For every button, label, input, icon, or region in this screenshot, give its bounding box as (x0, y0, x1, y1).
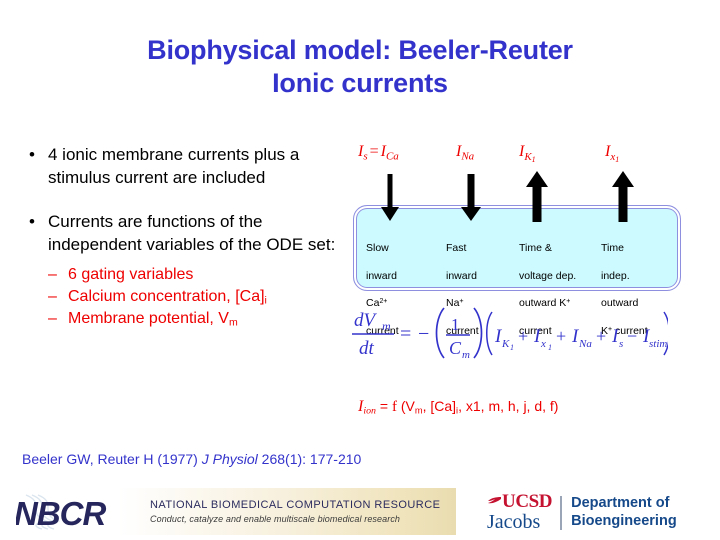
ucsd-wordmark: UCSD Jacobs (487, 492, 552, 533)
box-text-line: Time (601, 242, 648, 256)
title-line-2: Ionic currents (40, 67, 680, 100)
sub-bullet-text: 6 gating variables (68, 264, 336, 286)
nbcr-subtitle: Conduct, catalyze and enable multiscale … (150, 514, 450, 524)
sub-bullet-marker: – (48, 264, 68, 286)
arrow-down-ina-icon (459, 174, 483, 227)
svg-text:x: x (540, 338, 546, 350)
bullet-marker: • (26, 211, 48, 234)
box-text-line: inward (446, 270, 479, 284)
nbcr-logo: NBCR (16, 492, 146, 532)
list-item: – Calcium concentration, [Ca]i (48, 286, 336, 308)
arrow-down-ica-icon (378, 174, 402, 227)
box-text-line: inward (366, 270, 399, 284)
current-label-ina: INa (456, 143, 474, 163)
current-label-ik1: IK1 (519, 143, 536, 164)
svg-text:+: + (556, 326, 566, 346)
current-label-is-ica: Is=ICa (358, 143, 399, 163)
ode-equation: dV m dt = − 1 C m I K (352, 302, 668, 369)
sub-bullet-marker: – (48, 286, 68, 308)
svg-text:+: + (518, 326, 528, 346)
dept-line-1: Department of (571, 495, 677, 513)
svg-text:C: C (449, 338, 462, 358)
title-line-1: Biophysical model: Beeler-Reuter (40, 34, 680, 67)
bullet-text: 4 ionic membrane currents plus a stimulu… (48, 144, 336, 189)
svg-text:+: + (596, 326, 606, 346)
citation-authors: Beeler GW, Reuter H (1977) (22, 451, 198, 467)
bullet-marker: • (26, 144, 48, 167)
slide-canvas: Biophysical model: Beeler-Reuter Ionic c… (0, 0, 720, 540)
sub-bullet-list: – 6 gating variables – Calcium concentra… (26, 264, 336, 330)
ode-equation-svg: dV m dt = − 1 C m I K (352, 302, 668, 364)
sub-bullet-text: Calcium concentration, [Ca]i (68, 286, 336, 308)
sub-bullet-text: Membrane potential, Vm (68, 308, 336, 330)
list-item: • 4 ionic membrane currents plus a stimu… (26, 144, 336, 189)
svg-text:m: m (382, 319, 391, 333)
svg-text:K: K (501, 338, 510, 350)
ucsd-trident-icon (487, 495, 502, 508)
ucsd-top-text: UCSD (502, 491, 552, 512)
bullet-text: Currents are functions of the independen… (48, 211, 336, 256)
ion-args: (Vm, [Ca]i, x1, m, h, j, d, f) (401, 398, 559, 414)
ion-equals: = (380, 398, 392, 414)
ion-lhs: Iion (358, 398, 376, 415)
nbcr-text-block: NATIONAL BIOMEDICAL COMPUTATION RESOURCE… (150, 499, 450, 524)
box-text-line: voltage dep. (519, 270, 576, 284)
svg-text:Na: Na (578, 338, 592, 350)
box-text-line: Slow (366, 242, 399, 256)
svg-text:dV: dV (354, 310, 378, 331)
page-title: Biophysical model: Beeler-Reuter Ionic c… (40, 34, 680, 100)
ucsd-department: Department of Bioengineering (571, 495, 677, 530)
list-item: – Membrane potential, Vm (48, 308, 336, 330)
svg-text:1: 1 (548, 343, 552, 352)
svg-text:NBCR: NBCR (16, 495, 106, 532)
svg-text:dt: dt (359, 338, 375, 359)
sub-bullet-marker: – (48, 308, 68, 330)
svg-text:s: s (619, 338, 623, 350)
bullet-list: • 4 ionic membrane currents plus a stimu… (26, 144, 336, 330)
box-text-line: Time & (519, 242, 576, 256)
ucsd-top-line: UCSD (487, 492, 552, 511)
svg-text:−: − (418, 323, 429, 345)
ucsd-logo-block: UCSD Jacobs Department of Bioengineering (487, 492, 677, 533)
arrow-up-ix1-icon (610, 171, 636, 227)
svg-text:=: = (400, 323, 411, 345)
nbcr-title: NATIONAL BIOMEDICAL COMPUTATION RESOURCE (150, 499, 450, 511)
svg-text:−: − (627, 326, 637, 346)
svg-text:1: 1 (451, 315, 460, 334)
svg-text:1: 1 (510, 343, 514, 352)
svg-text:stim: stim (649, 338, 667, 350)
svg-text:m: m (462, 349, 470, 361)
citation-details: 268(1): 177-210 (262, 451, 362, 467)
list-item: – 6 gating variables (48, 264, 336, 286)
ion-function-equation: Iion = f (Vm, [Ca]i, x1, m, h, j, d, f) (358, 398, 558, 417)
box-text-line: indep. (601, 270, 648, 284)
dept-line-2: Bioengineering (571, 513, 677, 531)
box-text-line: Fast (446, 242, 479, 256)
ucsd-bottom-text: Jacobs (487, 512, 552, 533)
list-item: • Currents are functions of the independ… (26, 211, 336, 256)
ucsd-divider (560, 496, 562, 530)
citation-journal: J Physiol (202, 451, 258, 467)
arrow-up-ik1-icon (524, 171, 550, 227)
ion-function-symbol: f (392, 399, 397, 415)
current-label-ix1: Ix1 (605, 143, 619, 164)
citation: Beeler GW, Reuter H (1977) J Physiol 268… (22, 451, 361, 467)
